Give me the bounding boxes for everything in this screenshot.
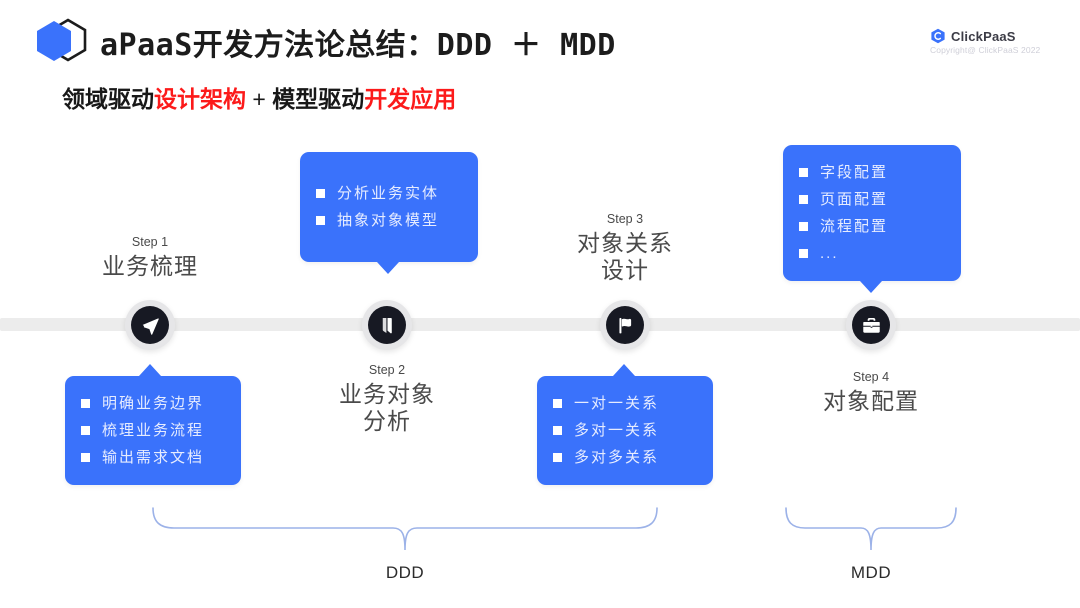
hexagon-filled-icon: [34, 19, 74, 63]
step-3-label: Step 3: [525, 212, 725, 226]
square-bullet-icon: [799, 168, 808, 177]
timeline-node-step-4[interactable]: [846, 300, 896, 350]
subtitle-part-4-highlight: 开发应用: [364, 86, 456, 112]
list-item: 多对一关系: [553, 417, 697, 444]
book-icon: [368, 306, 406, 344]
square-bullet-icon: [316, 216, 325, 225]
square-bullet-icon: [81, 453, 90, 462]
list-item-label: 分析业务实体: [337, 186, 439, 201]
step-3-title-line-1: 对象关系: [525, 230, 725, 257]
paper-plane-icon: [131, 306, 169, 344]
square-bullet-icon: [316, 189, 325, 198]
square-bullet-icon: [799, 222, 808, 231]
list-item: 明确业务边界: [81, 390, 225, 417]
flag-icon: [606, 306, 644, 344]
mdd-grouping-label: MDD: [791, 563, 951, 583]
list-item-label: ...: [820, 246, 839, 261]
step-1-callout-tail: [139, 364, 161, 376]
square-bullet-icon: [553, 399, 562, 408]
slide-canvas: aPaaS开发方法论总结：DDD ＋ MDD 领域驱动设计架构 + 模型驱动开发…: [0, 0, 1080, 608]
list-item: 字段配置: [799, 159, 945, 186]
step-1-title: 业务梳理: [50, 253, 250, 280]
list-item-label: 明确业务边界: [102, 396, 204, 411]
step-3-caption: Step 3 对象关系 设计: [525, 212, 725, 283]
list-item-label: 流程配置: [820, 219, 888, 234]
step-4-item-list: 字段配置 页面配置 流程配置 ...: [799, 159, 945, 267]
page-title: aPaaS开发方法论总结：DDD ＋ MDD: [100, 20, 616, 64]
subtitle-plus: +: [246, 86, 272, 112]
step-2-callout-box: 分析业务实体 抽象对象模型: [300, 152, 478, 262]
step-3-callout-box: 一对一关系 多对一关系 多对多关系: [537, 376, 713, 485]
step-1-callout-box: 明确业务边界 梳理业务流程 输出需求文档: [65, 376, 241, 485]
step-2-title-line-1: 业务对象: [287, 381, 487, 408]
step-3-title-line-2: 设计: [525, 257, 725, 284]
step-2-title-line-2: 分析: [287, 408, 487, 435]
square-bullet-icon: [799, 249, 808, 258]
list-item-label: 多对一关系: [574, 423, 659, 438]
step-2-caption: Step 2 业务对象 分析: [287, 363, 487, 434]
clickpaas-badge-icon: [930, 28, 946, 44]
clickpaas-hexagon-logo-icon: [34, 18, 90, 62]
brand-name: ClickPaaS: [951, 29, 1016, 44]
subtitle-part-1: 领域驱动: [62, 86, 154, 112]
list-item-label: 字段配置: [820, 165, 888, 180]
brand-watermark: ClickPaaS Copyright@ ClickPaaS 2022: [930, 28, 1052, 55]
brand-copyright: Copyright@ ClickPaaS 2022: [930, 45, 1052, 55]
step-3-callout-tail: [613, 364, 635, 376]
list-item: 分析业务实体: [316, 180, 462, 207]
list-item-label: 页面配置: [820, 192, 888, 207]
square-bullet-icon: [553, 453, 562, 462]
list-item: 流程配置: [799, 213, 945, 240]
step-4-caption: Step 4 对象配置: [771, 370, 971, 415]
list-item: 输出需求文档: [81, 444, 225, 471]
step-2-label: Step 2: [287, 363, 487, 377]
page-subtitle: 领域驱动设计架构 + 模型驱动开发应用: [62, 80, 456, 114]
subtitle-part-3: 模型驱动: [272, 86, 364, 112]
list-item: ...: [799, 240, 945, 267]
timeline-node-step-1[interactable]: [125, 300, 175, 350]
list-item: 一对一关系: [553, 390, 697, 417]
square-bullet-icon: [553, 426, 562, 435]
ddd-grouping-brace: [150, 506, 660, 552]
list-item-label: 一对一关系: [574, 396, 659, 411]
list-item-label: 输出需求文档: [102, 450, 204, 465]
square-bullet-icon: [81, 399, 90, 408]
list-item-label: 抽象对象模型: [337, 213, 439, 228]
square-bullet-icon: [81, 426, 90, 435]
step-2-callout-tail: [377, 262, 399, 274]
step-4-callout-tail: [860, 281, 882, 293]
step-4-label: Step 4: [771, 370, 971, 384]
timeline-node-step-3[interactable]: [600, 300, 650, 350]
step-1-label: Step 1: [50, 235, 250, 249]
step-4-callout-box: 字段配置 页面配置 流程配置 ...: [783, 145, 961, 281]
step-3-item-list: 一对一关系 多对一关系 多对多关系: [553, 390, 697, 471]
list-item-label: 梳理业务流程: [102, 423, 204, 438]
square-bullet-icon: [799, 195, 808, 204]
step-1-item-list: 明确业务边界 梳理业务流程 输出需求文档: [81, 390, 225, 471]
timeline-node-step-2[interactable]: [362, 300, 412, 350]
mdd-grouping-brace: [783, 506, 959, 552]
subtitle-part-2-highlight: 设计架构: [154, 86, 246, 112]
step-4-title: 对象配置: [771, 388, 971, 415]
step-2-item-list: 分析业务实体 抽象对象模型: [316, 166, 462, 248]
list-item: 梳理业务流程: [81, 417, 225, 444]
step-1-caption: Step 1 业务梳理: [50, 235, 250, 280]
list-item-label: 多对多关系: [574, 450, 659, 465]
list-item: 抽象对象模型: [316, 207, 462, 234]
briefcase-icon: [852, 306, 890, 344]
ddd-grouping-label: DDD: [325, 563, 485, 583]
list-item: 多对多关系: [553, 444, 697, 471]
list-item: 页面配置: [799, 186, 945, 213]
